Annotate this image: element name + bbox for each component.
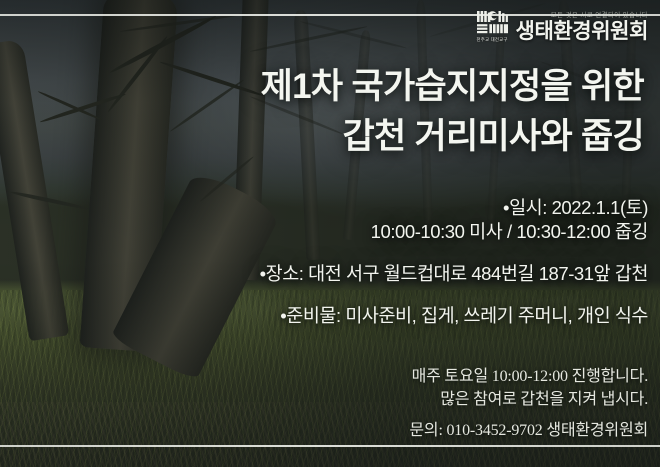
catholic-diocese-emblem-icon	[476, 10, 509, 37]
header: 천주교 대전교구 모든 것은 서로 연결되어 있습니다 생태환경위원회	[476, 10, 648, 42]
title-line-1: 제1차 국가습지지정을 위한	[261, 62, 644, 112]
page-title: 제1차 국가습지지정을 위한 갑천 거리미사와 줍깅	[261, 62, 644, 161]
logo-caption: 천주교 대전교구	[476, 38, 507, 42]
brand-tagline: 모든 것은 서로 연결되어 있습니다	[551, 13, 648, 20]
detail-date: •일시: 2022.1.1(토)	[260, 196, 648, 220]
footer-recurrence: 매주 토요일 10:00-12:00 진행합니다.	[409, 366, 648, 389]
logo-block: 천주교 대전교구	[476, 10, 509, 42]
footer-contact: 문의: 010-3452-9702 생태환경위원회	[409, 420, 648, 443]
detail-schedule: 10:00-10:30 미사 / 10:30-12:00 줍깅	[260, 220, 648, 244]
footer-notes: 매주 토요일 10:00-12:00 진행합니다. 많은 참여로 갑천을 지켜 …	[409, 366, 648, 443]
brand-column: 모든 것은 서로 연결되어 있습니다 생태환경위원회	[516, 13, 648, 43]
title-line-2: 갑천 거리미사와 줍깅	[261, 112, 644, 162]
footer-callout: 많은 참여로 갑천을 지켜 냅시다.	[409, 389, 648, 412]
divider-bottom	[0, 445, 660, 447]
detail-items-to-bring: •준비물: 미사준비, 집게, 쓰레기 주머니, 개인 식수	[260, 304, 648, 328]
event-details: •일시: 2022.1.1(토) 10:00-10:30 미사 / 10:30-…	[260, 196, 648, 328]
detail-location: •장소: 대전 서구 월드컵대로 484번길 187-31앞 갑천	[260, 262, 648, 286]
poster-canvas: 천주교 대전교구 모든 것은 서로 연결되어 있습니다 생태환경위원회 제1차 …	[0, 0, 660, 467]
brand-name: 생태환경위원회	[516, 21, 648, 42]
